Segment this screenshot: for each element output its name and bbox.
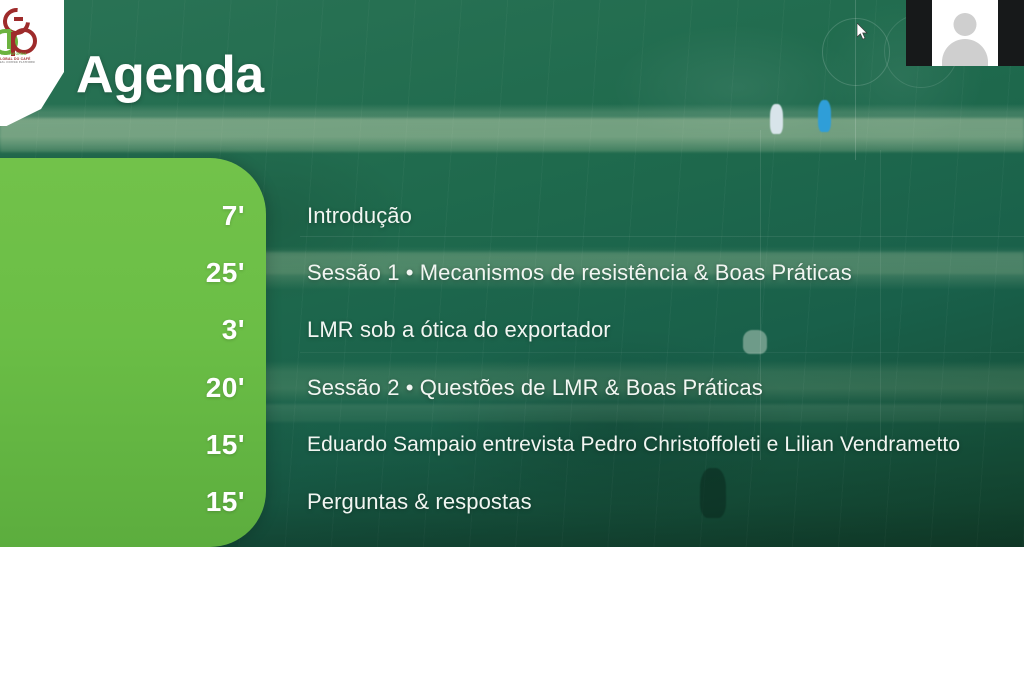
- agenda-row-time: 15': [0, 429, 245, 461]
- presenter-video-frame: [932, 0, 998, 66]
- agenda-row: 15' Perguntas & respostas: [0, 482, 1024, 522]
- presentation-slide: PLATAFORMA GLOBAL DO CAFÉ GLOBAL COFFEE …: [0, 0, 1024, 547]
- agenda-row-time: 20': [0, 372, 245, 404]
- brand-wordmark-line3: GLOBAL COFFEE PLATFORM: [0, 61, 38, 66]
- background-circle-motif: [822, 18, 890, 86]
- gcp-coffee-logo-icon: PLATAFORMA GLOBAL DO CAFÉ GLOBAL COFFEE …: [0, 8, 38, 66]
- agenda-row: 25' Sessão 1 • Mecanismos de resistência…: [0, 253, 1024, 293]
- agenda-row: 20' Sessão 2 • Questões de LMR & Boas Pr…: [0, 368, 1024, 408]
- agenda-row-label: LMR sob a ótica do exportador: [307, 317, 611, 343]
- agenda-row-label: Introdução: [307, 203, 412, 229]
- background-terrace-band: [0, 118, 1024, 152]
- agenda-row-time: 3': [0, 314, 245, 346]
- slide-title: Agenda: [76, 45, 264, 105]
- agenda-row-time: 7': [0, 200, 245, 232]
- background-figure: [770, 104, 783, 134]
- default-person-avatar-icon: [942, 39, 988, 66]
- agenda-row-label: Perguntas & respostas: [307, 489, 532, 515]
- agenda-row-time: 25': [0, 257, 245, 289]
- presenter-video-tile[interactable]: [906, 0, 1024, 66]
- agenda-row: 3' LMR sob a ótica do exportador: [0, 310, 1024, 350]
- agenda-row-label: Sessão 2 • Questões de LMR & Boas Prátic…: [307, 375, 763, 401]
- agenda-list: 7' Introdução 25' Sessão 1 • Mecanismos …: [0, 158, 1024, 547]
- screen-share-stage: PLATAFORMA GLOBAL DO CAFÉ GLOBAL COFFEE …: [0, 0, 1024, 683]
- agenda-row: 15' Eduardo Sampaio entrevista Pedro Chr…: [0, 425, 1024, 465]
- agenda-row-label: Eduardo Sampaio entrevista Pedro Christo…: [307, 433, 960, 457]
- agenda-row-label: Sessão 1 • Mecanismos de resistência & B…: [307, 260, 852, 286]
- default-person-avatar-icon: [954, 13, 977, 36]
- agenda-row-time: 15': [0, 486, 245, 518]
- background-figure: [818, 100, 831, 132]
- agenda-row: 7' Introdução: [0, 196, 1024, 236]
- brand-wordmark: PLATAFORMA GLOBAL DO CAFÉ GLOBAL COFFEE …: [0, 52, 38, 66]
